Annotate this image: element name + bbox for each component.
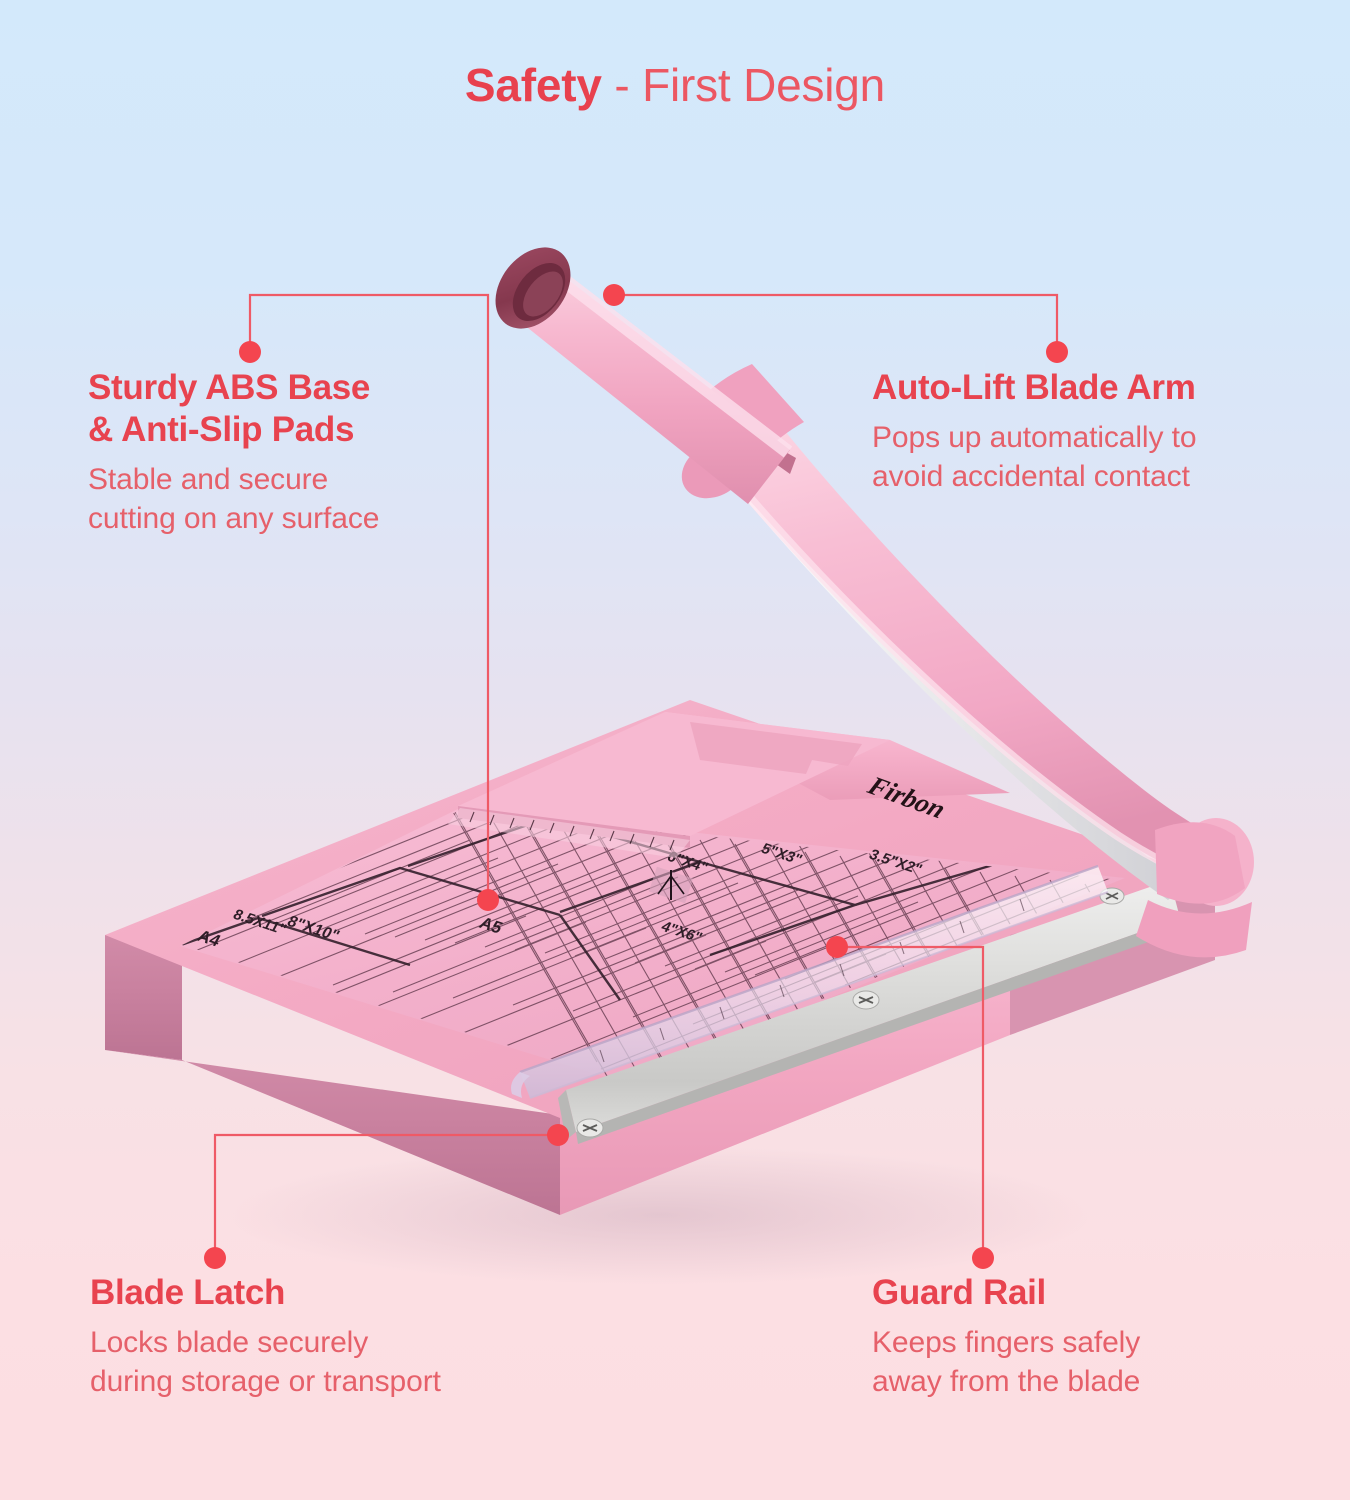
callout-blade-latch-description: Locks blade securely during storage or t… xyxy=(90,1323,560,1401)
callout-guard-rail: Guard Rail Keeps fingers safely away fro… xyxy=(872,1272,1292,1401)
callout-guard-rail-description: Keeps fingers safely away from the blade xyxy=(872,1323,1292,1401)
callout-guard-rail-heading: Guard Rail xyxy=(872,1272,1292,1314)
callout-blade-latch-heading: Blade Latch xyxy=(90,1272,560,1314)
infographic-canvas: Safety - First Design xyxy=(0,0,1350,1500)
callout-sturdy-base: Sturdy ABS Base & Anti-Slip Pads Stable … xyxy=(88,367,508,538)
callout-blade-arm-heading: Auto-Lift Blade Arm xyxy=(872,367,1292,409)
rail-screw xyxy=(853,991,879,1009)
callout-sturdy-base-heading: Sturdy ABS Base & Anti-Slip Pads xyxy=(88,367,508,451)
callout-blade-latch: Blade Latch Locks blade securely during … xyxy=(90,1272,560,1401)
rail-screw xyxy=(577,1119,603,1137)
callout-blade-arm: Auto-Lift Blade Arm Pops up automaticall… xyxy=(872,367,1292,496)
callout-sturdy-base-description: Stable and secure cutting on any surface xyxy=(88,460,508,538)
blade-handle xyxy=(480,233,804,510)
callout-blade-arm-description: Pops up automatically to avoid accidenta… xyxy=(872,418,1292,496)
